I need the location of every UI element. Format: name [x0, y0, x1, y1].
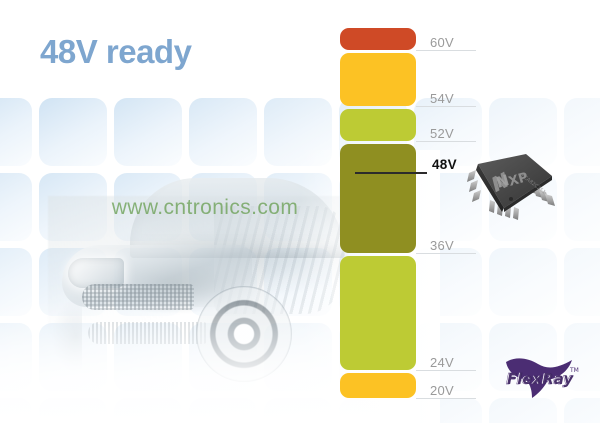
svg-text:FlexRay: FlexRay: [507, 370, 574, 388]
nxp-chip-image: N XP PCA82C251: [464, 146, 562, 220]
tick-line-24V: [416, 370, 476, 371]
tick-label-54V: 54V: [430, 91, 454, 106]
tick-line-54V: [416, 106, 476, 107]
flexray-logo: FlexRay FlexRay TM: [498, 352, 590, 400]
tick-label-48V: 48V: [432, 157, 457, 172]
tick-label-60V: 60V: [430, 35, 454, 50]
tick-label-24V: 24V: [430, 355, 454, 370]
slide-canvas: www.cntronics.com 48V ready 60V54V52V48V…: [0, 0, 600, 423]
highlight-pointer-line: [355, 172, 427, 174]
tick-line-20V: [416, 398, 476, 399]
tick-label-20V: 20V: [430, 383, 454, 398]
tick-line-36V: [416, 253, 476, 254]
tick-line-60V: [416, 50, 476, 51]
svg-text:TM: TM: [569, 367, 579, 374]
tick-label-36V: 36V: [430, 238, 454, 253]
tick-label-52V: 52V: [430, 126, 454, 141]
tick-line-52V: [416, 141, 476, 142]
